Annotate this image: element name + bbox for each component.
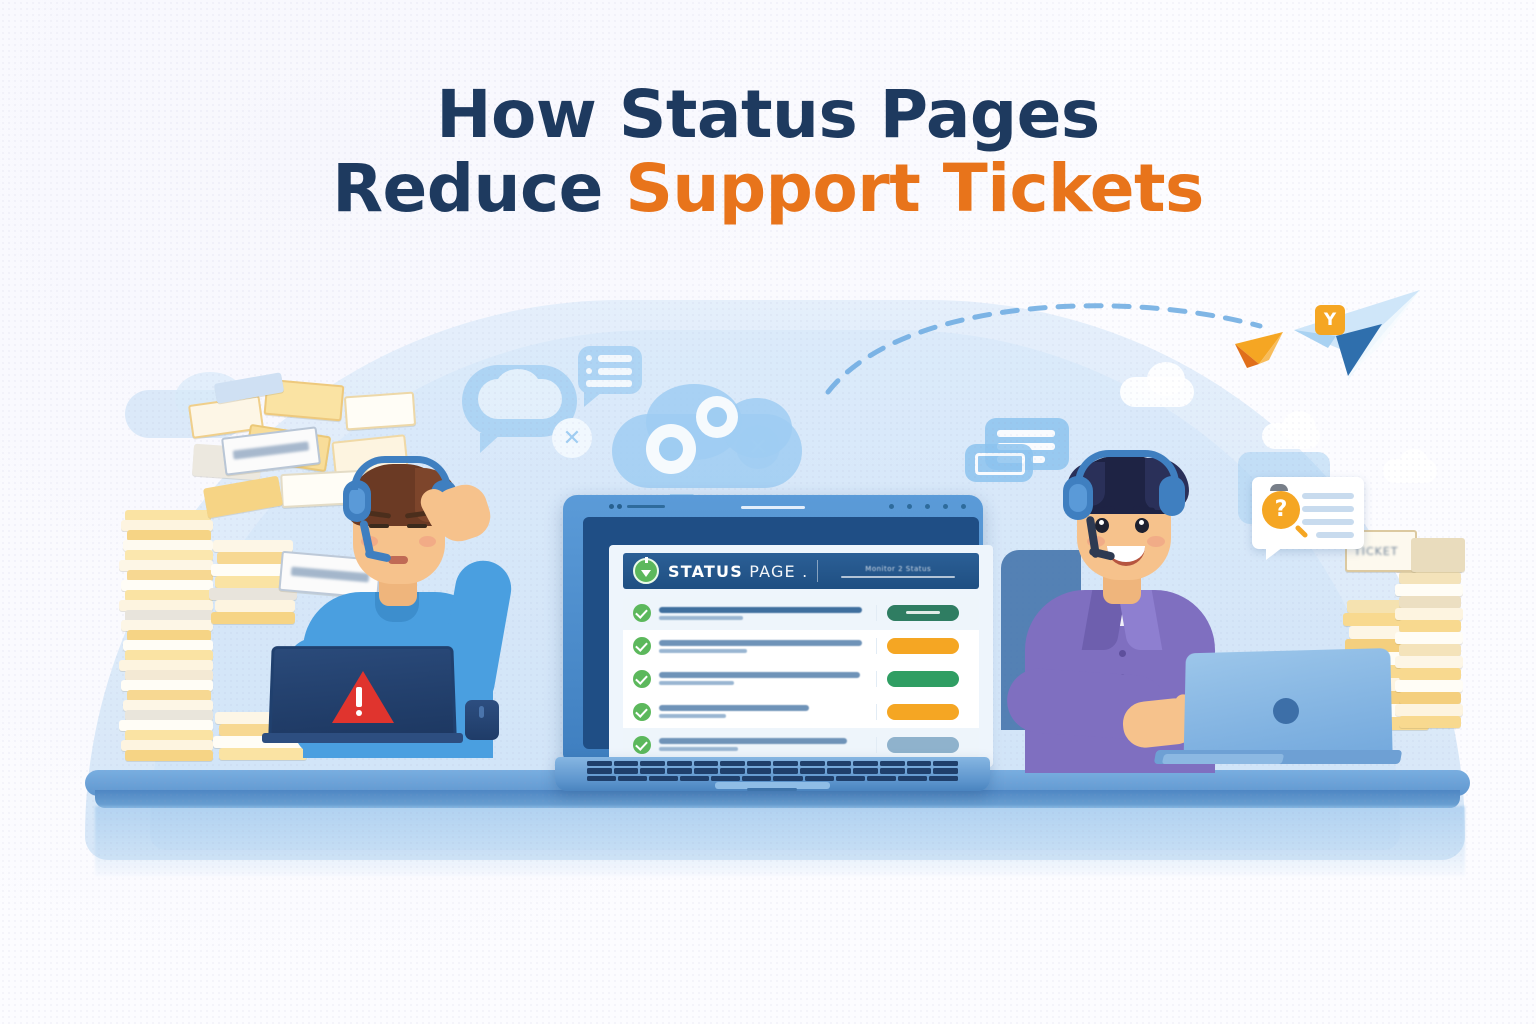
download-arrow-icon	[633, 558, 659, 584]
table-row[interactable]	[623, 630, 979, 663]
laptop-base	[555, 757, 990, 791]
paper-plane-icon	[1290, 288, 1425, 383]
check-icon	[633, 670, 651, 688]
agent-laptop-blue	[1155, 650, 1387, 770]
status-page-brand: STATUS PAGE .	[668, 562, 808, 581]
status-table	[623, 597, 979, 761]
page-title: How Status Pages Reduce Support Tickets	[0, 78, 1536, 226]
status-badge	[887, 704, 959, 720]
warning-exclamation-dot	[356, 710, 362, 716]
check-icon	[633, 703, 651, 721]
plane-badge: Y	[1315, 305, 1345, 335]
status-badge	[887, 671, 959, 687]
gear-icon	[696, 396, 738, 438]
plane-trail	[820, 280, 1280, 400]
brand-strong: STATUS	[668, 562, 743, 581]
status-badge	[887, 737, 959, 753]
table-row[interactable]	[623, 597, 979, 630]
warning-triangle-icon	[332, 671, 394, 723]
status-badge	[887, 638, 959, 654]
status-badge	[887, 605, 959, 621]
faq-card: ?	[1252, 477, 1364, 549]
title-line-2-plain: Reduce	[332, 150, 625, 227]
brand-light: PAGE .	[743, 562, 808, 581]
check-icon	[633, 637, 651, 655]
check-icon	[633, 736, 651, 754]
status-page-meta-text: Monitor 2 Status	[827, 565, 969, 573]
table-row[interactable]	[623, 663, 979, 696]
cloud-gears-group	[612, 378, 802, 498]
status-page-header: STATUS PAGE . Monitor 2 Status	[623, 553, 979, 589]
magnifier-question-icon: ?	[1262, 491, 1300, 529]
illustration-canvas: ✕ ✕ Y	[0, 0, 1536, 1024]
table-row[interactable]	[623, 695, 979, 728]
title-line-2-accent: Support Tickets	[625, 150, 1203, 227]
left-scene-stressed-agent	[95, 360, 575, 785]
status-page-meta: Monitor 2 Status	[827, 565, 969, 578]
desk-reflection	[95, 806, 1465, 876]
keyboard[interactable]	[587, 761, 958, 781]
mouse-device	[465, 700, 499, 740]
paper-plane-small-icon	[1233, 330, 1287, 370]
gear-icon	[646, 424, 696, 474]
agent-laptop-alert	[270, 645, 455, 745]
status-page-screen: STATUS PAGE . Monitor 2 Status	[609, 545, 993, 767]
warning-exclamation	[356, 687, 362, 707]
status-page-laptop: STATUS PAGE . Monitor 2 Status	[555, 495, 990, 795]
title-line-2: Reduce Support Tickets	[0, 152, 1536, 226]
right-scene-happy-agent: TICKET	[995, 400, 1465, 790]
check-icon	[633, 604, 651, 622]
title-line-1: How Status Pages	[0, 78, 1536, 152]
